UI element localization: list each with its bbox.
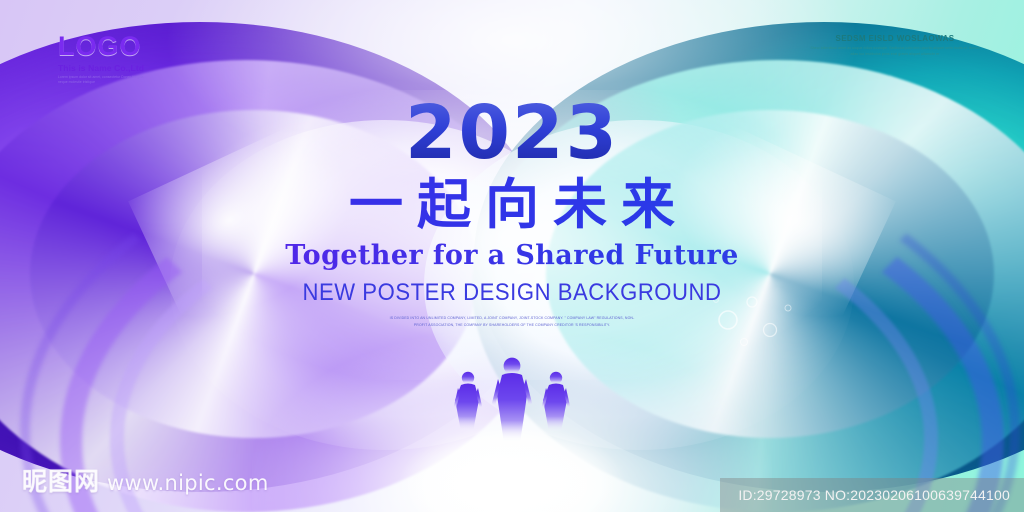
image-id-bar: ID:29728973 NO:20230206100639744100 (720, 478, 1024, 512)
runner-left (454, 372, 482, 432)
headline-chinese: 一起向未来 (0, 176, 1024, 234)
running-figures-illustration (442, 352, 582, 472)
subheadline: NEW POSTER DESIGN BACKGROUND (41, 280, 983, 306)
main-copy-block: 2023 一起向未来 Together for a Shared Future … (0, 0, 1024, 328)
watermark-site-name: 昵图网 (22, 462, 100, 498)
headline-english: Together for a Shared Future (0, 241, 1024, 271)
runner-center (492, 358, 532, 443)
year-title: 2023 (0, 96, 1024, 170)
watermark: 昵图网 www.nipic.com (22, 462, 269, 498)
poster-canvas: LOGO This is Name Co.,Ltd Lorem ipsum do… (0, 0, 1024, 512)
watermark-url: www.nipic.com (107, 471, 269, 495)
image-id-text: ID:29728973 NO:20230206100639744100 (738, 487, 1010, 503)
fine-print-paragraph: IS DIVIDED INTO AN UNLIMITED COMPANY, LI… (386, 315, 638, 327)
runner-right (542, 372, 570, 432)
